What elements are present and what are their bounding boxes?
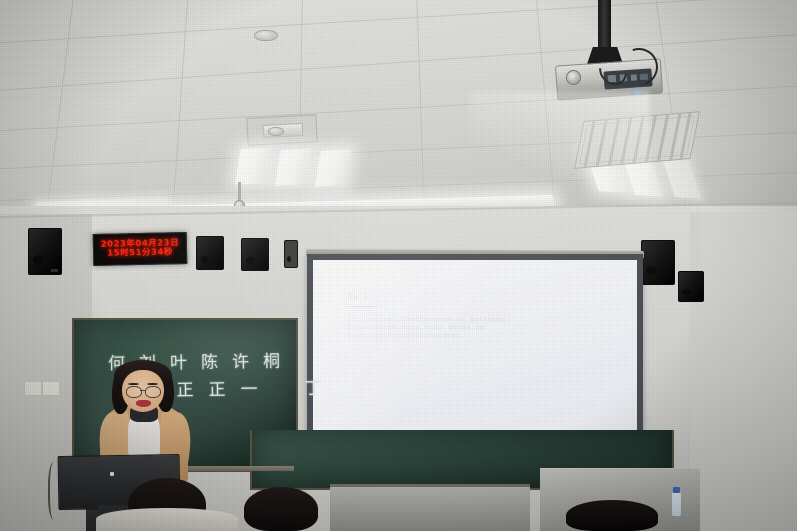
chalk-tally-4: 一: [240, 375, 258, 400]
student-desk-edge: [330, 484, 530, 487]
ceiling-panel-light-3: [315, 149, 351, 187]
wall-speaker-center-left: [196, 236, 224, 270]
slide-body-text: 民国二十九年五月主题词，高等师范学院社会主义核心价值，普通高等院校教育 第一百四…: [347, 316, 609, 341]
water-bottle: [672, 492, 681, 516]
slide-heading: No. 3: [347, 292, 368, 301]
wall-speaker-right-large: [641, 240, 675, 285]
student-foreground-left-shoulders: [96, 508, 238, 531]
teacher-mouth: [136, 400, 151, 407]
smoke-detector: [254, 30, 278, 41]
chalk-tally-5: [272, 374, 290, 399]
ceiling-dome-fixture: [268, 127, 284, 136]
teacher-glasses-left-lens: [126, 386, 142, 398]
chalk-tally-3: 正: [208, 375, 226, 400]
slide-heading-rule: [347, 306, 377, 307]
slide-body-line-3: 民主思想，全面提升中华民族现代化建设的基本理论要点。: [347, 332, 609, 340]
projector-beam-glow: [470, 92, 650, 202]
speaker-label: [51, 269, 58, 272]
classroom-photo: 2023年04月23日 15时51分34秒 No. 3 民国二十九年五月主题词，…: [0, 0, 797, 531]
teacher-glasses-right-lens: [145, 386, 161, 398]
screen-glare: [313, 260, 637, 440]
ceiling-panel-light-2: [275, 148, 311, 186]
chalk-name-4: 陈: [201, 348, 218, 373]
light-switch-right[interactable]: [42, 381, 60, 396]
right-wall: [690, 212, 797, 531]
student-foreground-center: [244, 487, 318, 531]
led-date-time-display: 2023年04月23日 15时51分34秒: [93, 232, 188, 266]
projector-lens: [566, 70, 581, 85]
ceiling-panel-light-1: [235, 147, 271, 185]
projection-screen: No. 3 民国二十九年五月主题词，高等师范学院社会主义核心价值，普通高等院校教…: [313, 260, 637, 440]
chalk-tally-6: 丁: [304, 374, 322, 399]
slide-body-line-1: 民国二十九年五月主题词，高等师范学院社会主义核心价值，普通高等院校教育: [347, 316, 609, 324]
student-foreground-right: [566, 500, 658, 531]
slide-body-line-2: 第一百四十八条规定解释，依据法规，学之基本。 重要的理论，为国: [347, 324, 609, 332]
podium-cable: [48, 462, 62, 520]
led-time-line: 15时51分34秒: [107, 248, 173, 258]
projector-mount-pole: [598, 0, 611, 50]
chalk-tally-2: 正: [176, 376, 194, 401]
chalk-name-5: 许: [232, 347, 249, 372]
student-desk-row: [330, 484, 530, 531]
light-switch-left[interactable]: [24, 381, 42, 396]
wall-junction-box: [284, 240, 298, 268]
teacher-glasses-bridge: [140, 390, 145, 391]
teacher-brow-left: [128, 383, 139, 385]
chalk-name-3: 叶: [170, 348, 187, 373]
wall-speaker-left: [28, 228, 62, 275]
wall-speaker-right-small: [678, 271, 704, 302]
water-bottle-cap: [673, 487, 680, 493]
chalk-name-6: 桐: [263, 347, 280, 372]
teacher-brow-right: [147, 383, 158, 385]
wall-speaker-center-right: [241, 238, 269, 271]
monitor-power-indicator: [110, 472, 114, 476]
